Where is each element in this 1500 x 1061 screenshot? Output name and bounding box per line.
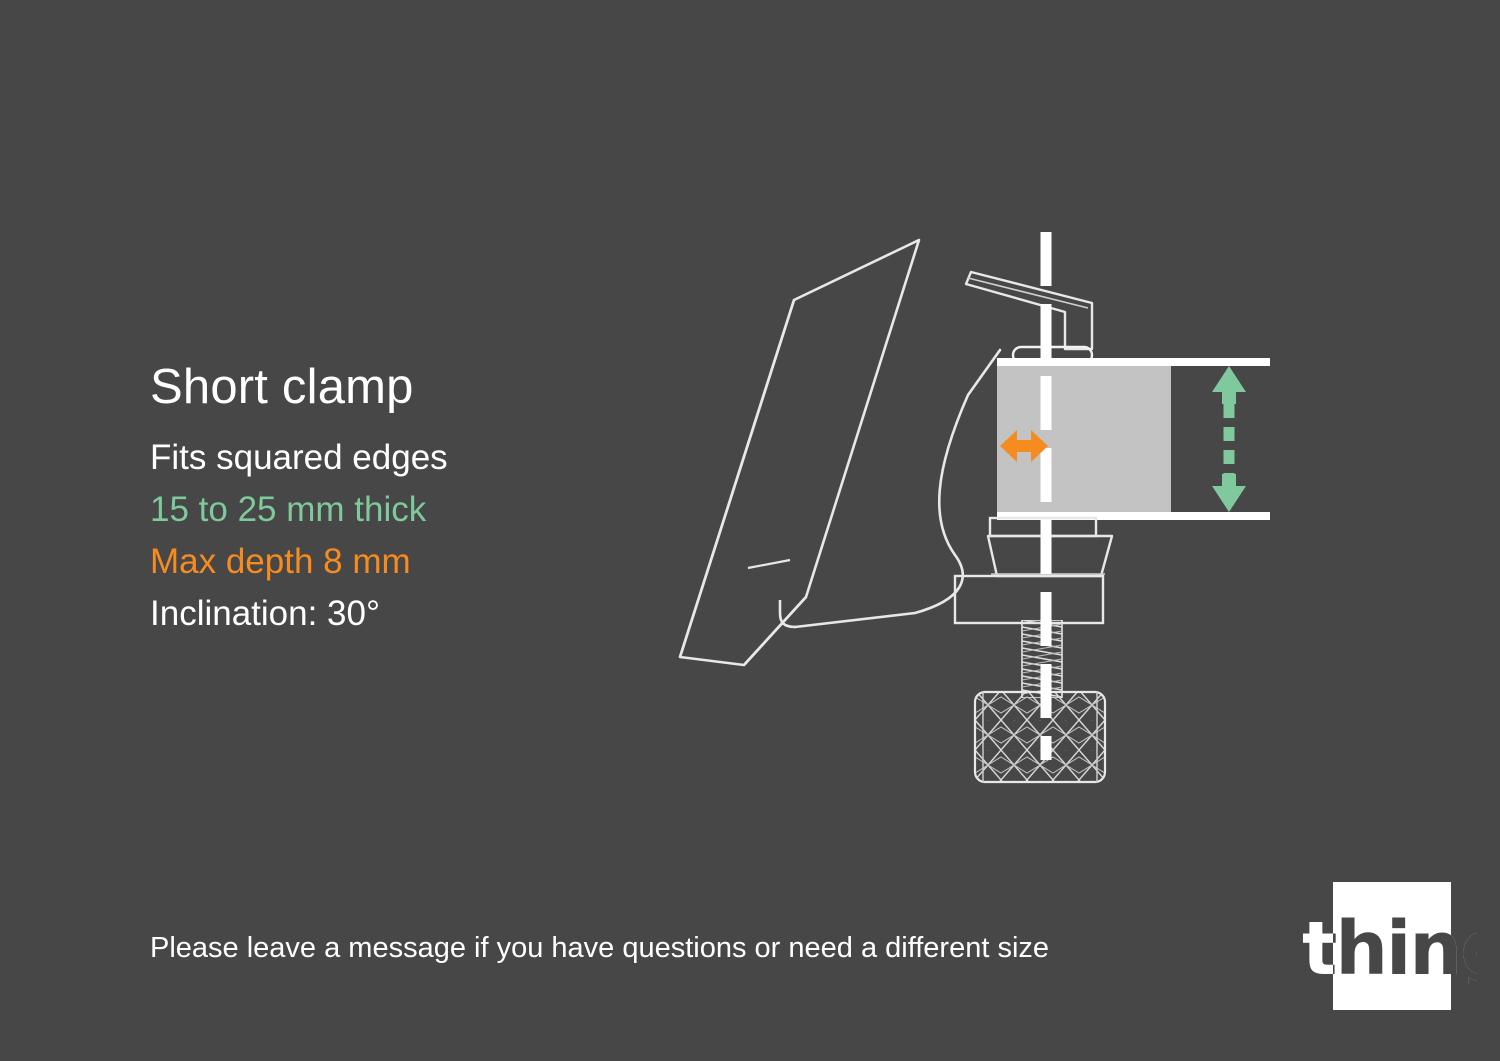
knurled-tightening-knob — [975, 692, 1105, 782]
clamp-technical-drawing — [0, 0, 1500, 1061]
clamp-c-frame — [780, 350, 1000, 627]
clamp-body-group — [680, 232, 1270, 782]
board-thickness-arrow — [1212, 366, 1246, 512]
lower-jaw-assembly — [955, 518, 1112, 623]
angled-clamp-arm — [680, 240, 919, 665]
product-spec-card: Short clamp Fits squared edges 15 to 25 … — [0, 0, 1500, 1061]
upper-clamp-jaw — [966, 272, 1092, 349]
